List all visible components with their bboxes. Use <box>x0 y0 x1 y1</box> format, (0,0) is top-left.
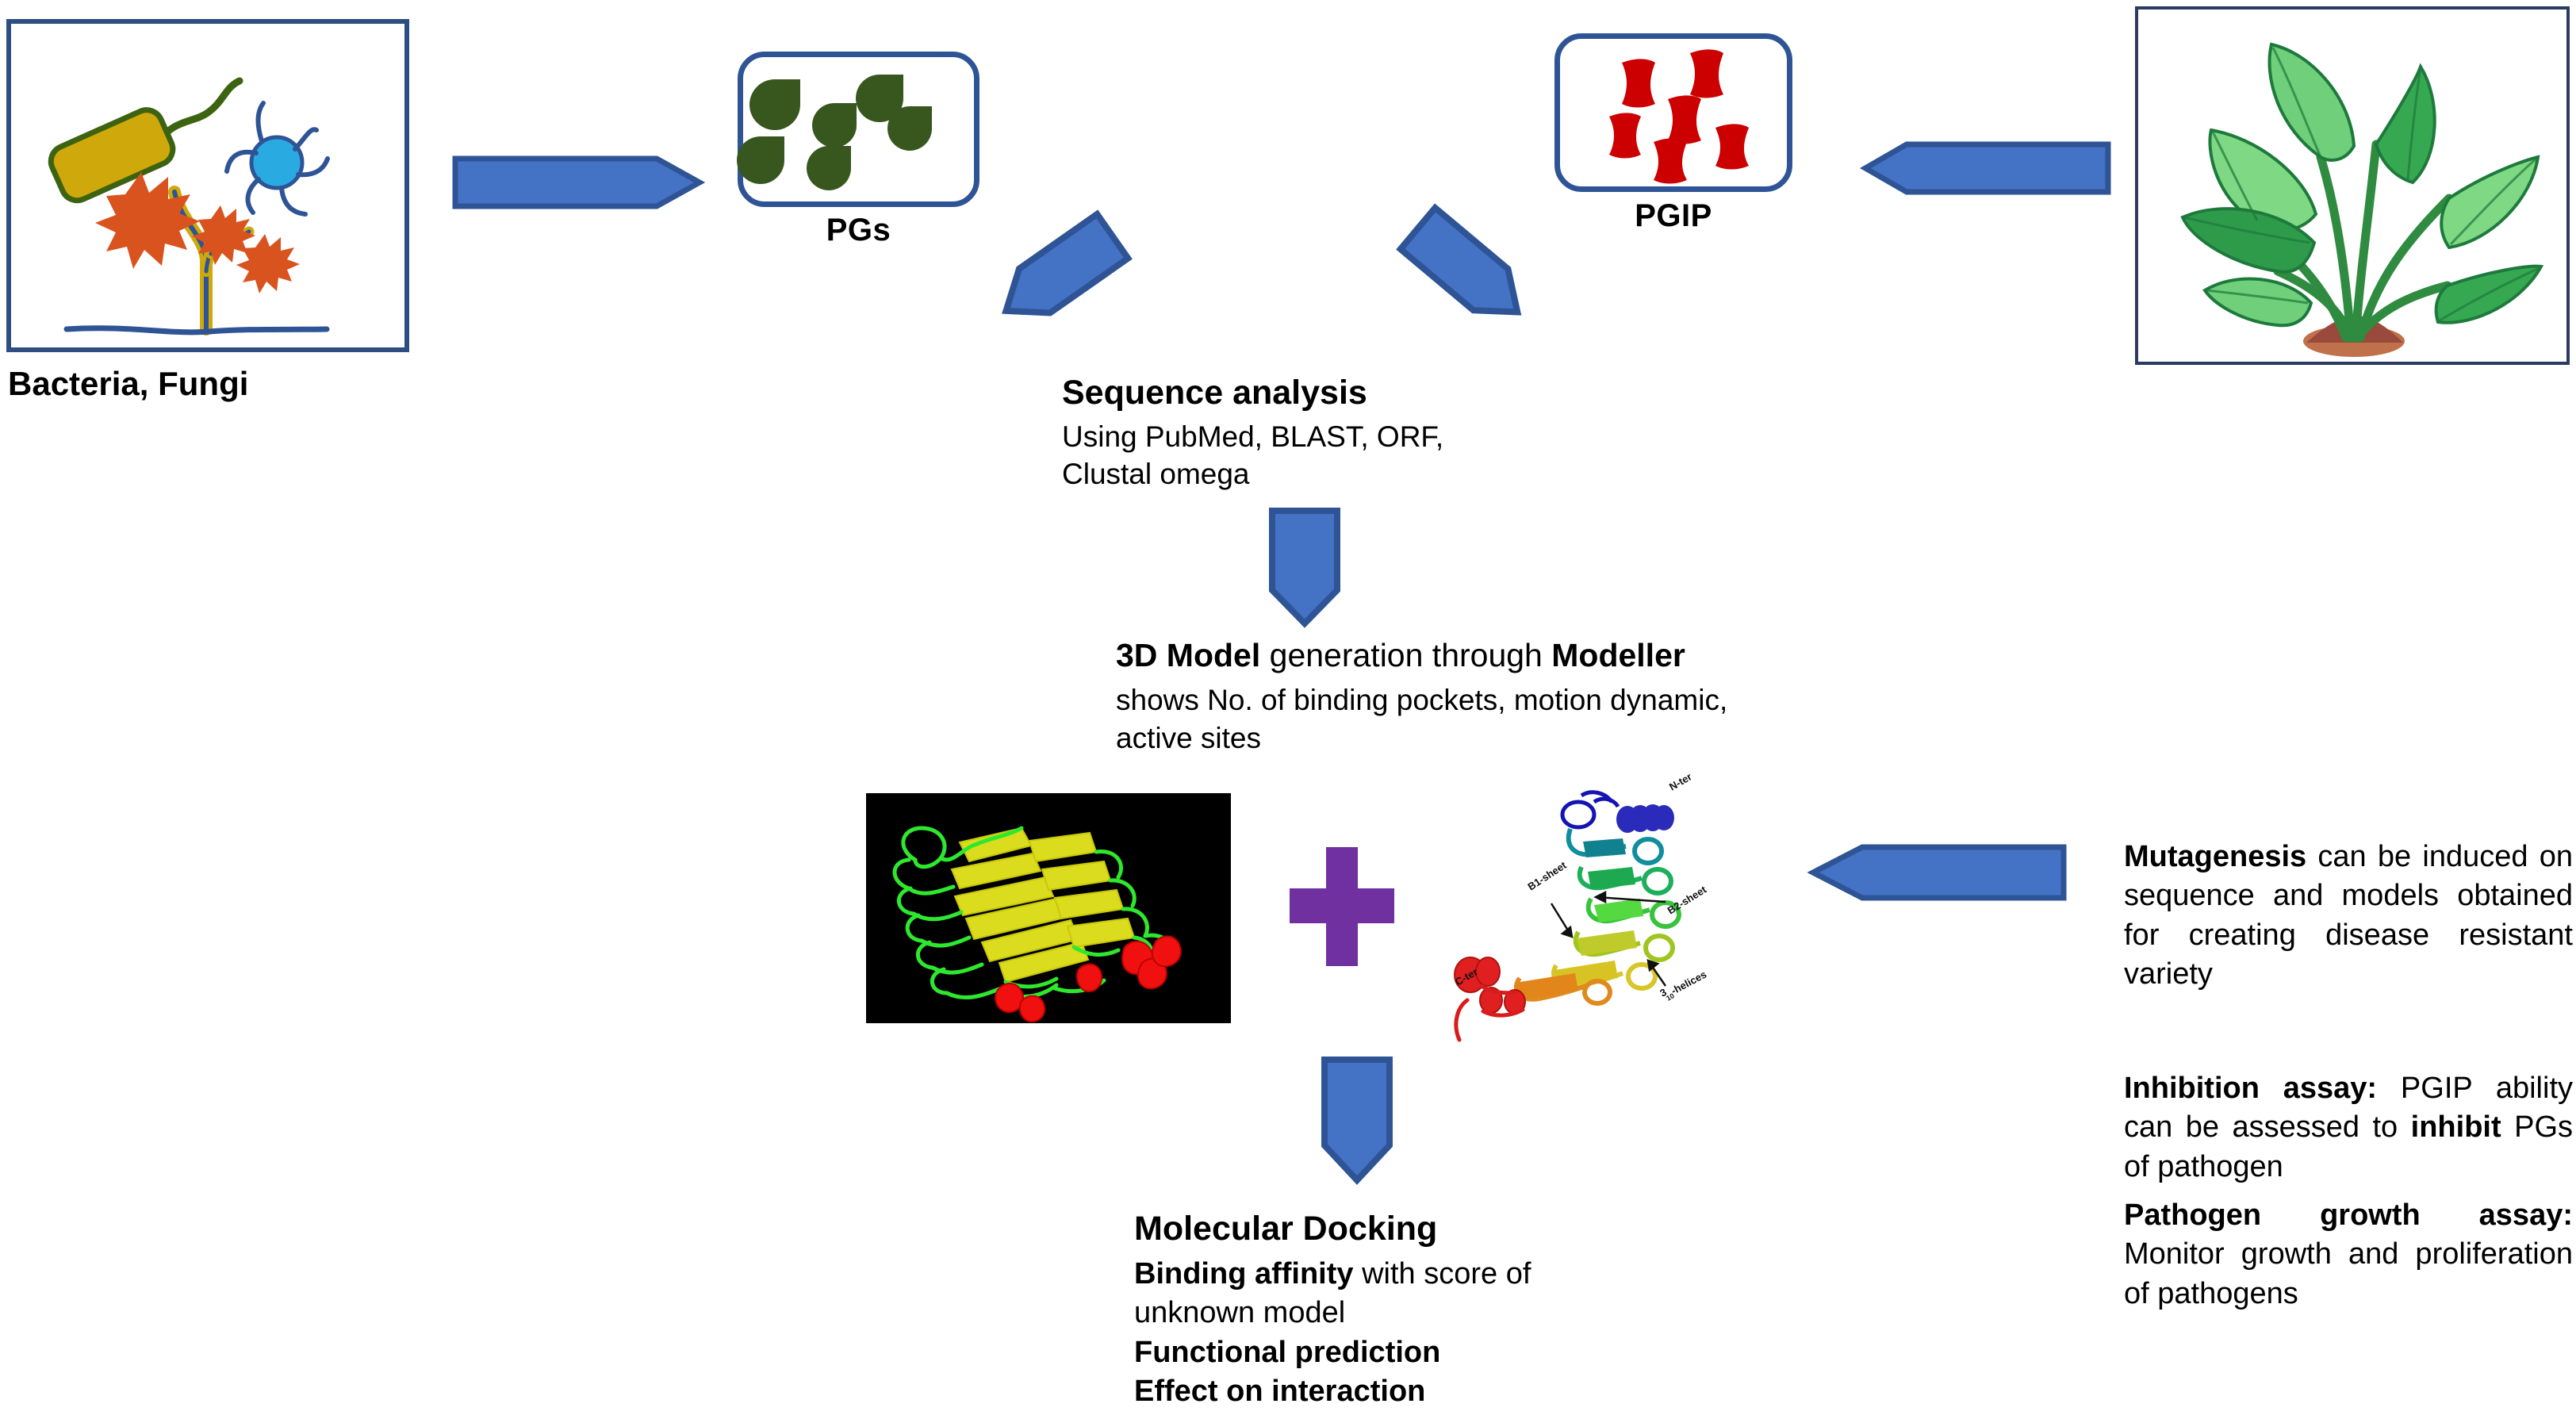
pgip-box-label: PGIP <box>1554 198 1792 234</box>
pathogen-growth-assay-heading: Pathogen growth assay: <box>2124 1198 2573 1232</box>
sequence-analysis-heading: Sequence analysis <box>1062 371 1538 416</box>
pathogen-growth-assay-block: Pathogen growth assay: Monitor growth an… <box>2124 1196 2573 1314</box>
pg-enzyme-blobs <box>743 57 974 201</box>
mutagenesis-block: Mutagenesis can be induced on sequence a… <box>2124 838 2573 995</box>
pgip-rainbow-ribbon-model: N-ter B2-sheet B1-sheet 3 10 -helices C-… <box>1436 773 1753 1043</box>
pg-box-label: PGs <box>738 213 979 248</box>
label-b1-sheet: B1-sheet <box>1525 859 1569 893</box>
damaged-plant-icon <box>67 172 327 332</box>
model-generation-heading-part1: 3D Model <box>1116 637 1260 673</box>
molecular-docking-line1: Binding affinity with score of unknown m… <box>1134 1255 1610 1333</box>
pgip-rainbow-structure: N-ter B2-sheet B1-sheet 3 10 -helices C-… <box>1436 773 1753 1043</box>
binding-affinity-label: Binding affinity <box>1134 1257 1354 1291</box>
sequence-analysis-block: Sequence analysis Using PubMed, BLAST, O… <box>1062 371 1538 493</box>
arrow-pathogen-to-pgs <box>455 155 701 209</box>
label-b2-sheet: B2-sheet <box>1666 883 1709 916</box>
fungus-spore-icon <box>227 103 328 214</box>
model-generation-heading: 3D Model generation through Modeller <box>1116 635 1750 677</box>
leafy-plant-icon <box>2138 10 2566 362</box>
svg-text:-helices: -helices <box>1669 968 1708 997</box>
molecular-docking-line2: Functional prediction <box>1134 1333 1610 1372</box>
inhibition-assay-block: Inhibition assay: PGIP ability can be as… <box>2124 1069 2573 1187</box>
pathogen-growth-assay-body: Monitor growth and proliferation of path… <box>2124 1237 2573 1310</box>
pg-ribbon-structure <box>866 793 1231 1023</box>
combine-plus-icon <box>1290 847 1394 966</box>
molecular-docking-line3: Effect on interaction <box>1134 1372 1610 1411</box>
arrow-plant-to-pgip <box>1865 141 2108 195</box>
pgip-protein-ribbons <box>1560 39 1787 186</box>
arrow-mutagenesis-to-structures <box>1813 844 2064 901</box>
mutagenesis-heading: Mutagenesis <box>2124 840 2306 873</box>
pathogen-illustration <box>11 24 404 347</box>
pg-ribbon-model-black-background <box>866 793 1231 1023</box>
model-generation-block: 3D Model generation through Modeller sho… <box>1116 635 1750 757</box>
arrow-sequence-to-model <box>1261 508 1348 627</box>
inhibition-assay-body-bold: inhibit <box>2411 1110 2501 1144</box>
pgip-box <box>1554 33 1792 192</box>
model-generation-heading-mid: generation through <box>1260 637 1551 673</box>
plant-panel <box>2135 6 2570 365</box>
pg-box <box>738 52 979 207</box>
inhibition-assay-heading: Inhibition assay: <box>2124 1072 2377 1105</box>
sequence-analysis-body: Using PubMed, BLAST, ORF, Clustal omega <box>1062 419 1538 493</box>
model-generation-heading-part2: Modeller <box>1551 637 1685 673</box>
arrow-pgs-to-sequence-analysis <box>988 203 1163 362</box>
label-n-ter: N-ter <box>1667 770 1694 792</box>
model-generation-body: shows No. of binding pockets, motion dyn… <box>1116 681 1750 757</box>
molecular-docking-block: Molecular Docking Binding affinity with … <box>1134 1207 1610 1411</box>
pathogen-panel-caption: Bacteria, Fungi <box>8 365 248 403</box>
arrow-pgip-to-sequence-analysis <box>1382 200 1556 359</box>
molecular-docking-heading: Molecular Docking <box>1134 1207 1610 1252</box>
arrow-model-to-docking <box>1313 1057 1401 1183</box>
pathogen-panel <box>6 19 409 352</box>
